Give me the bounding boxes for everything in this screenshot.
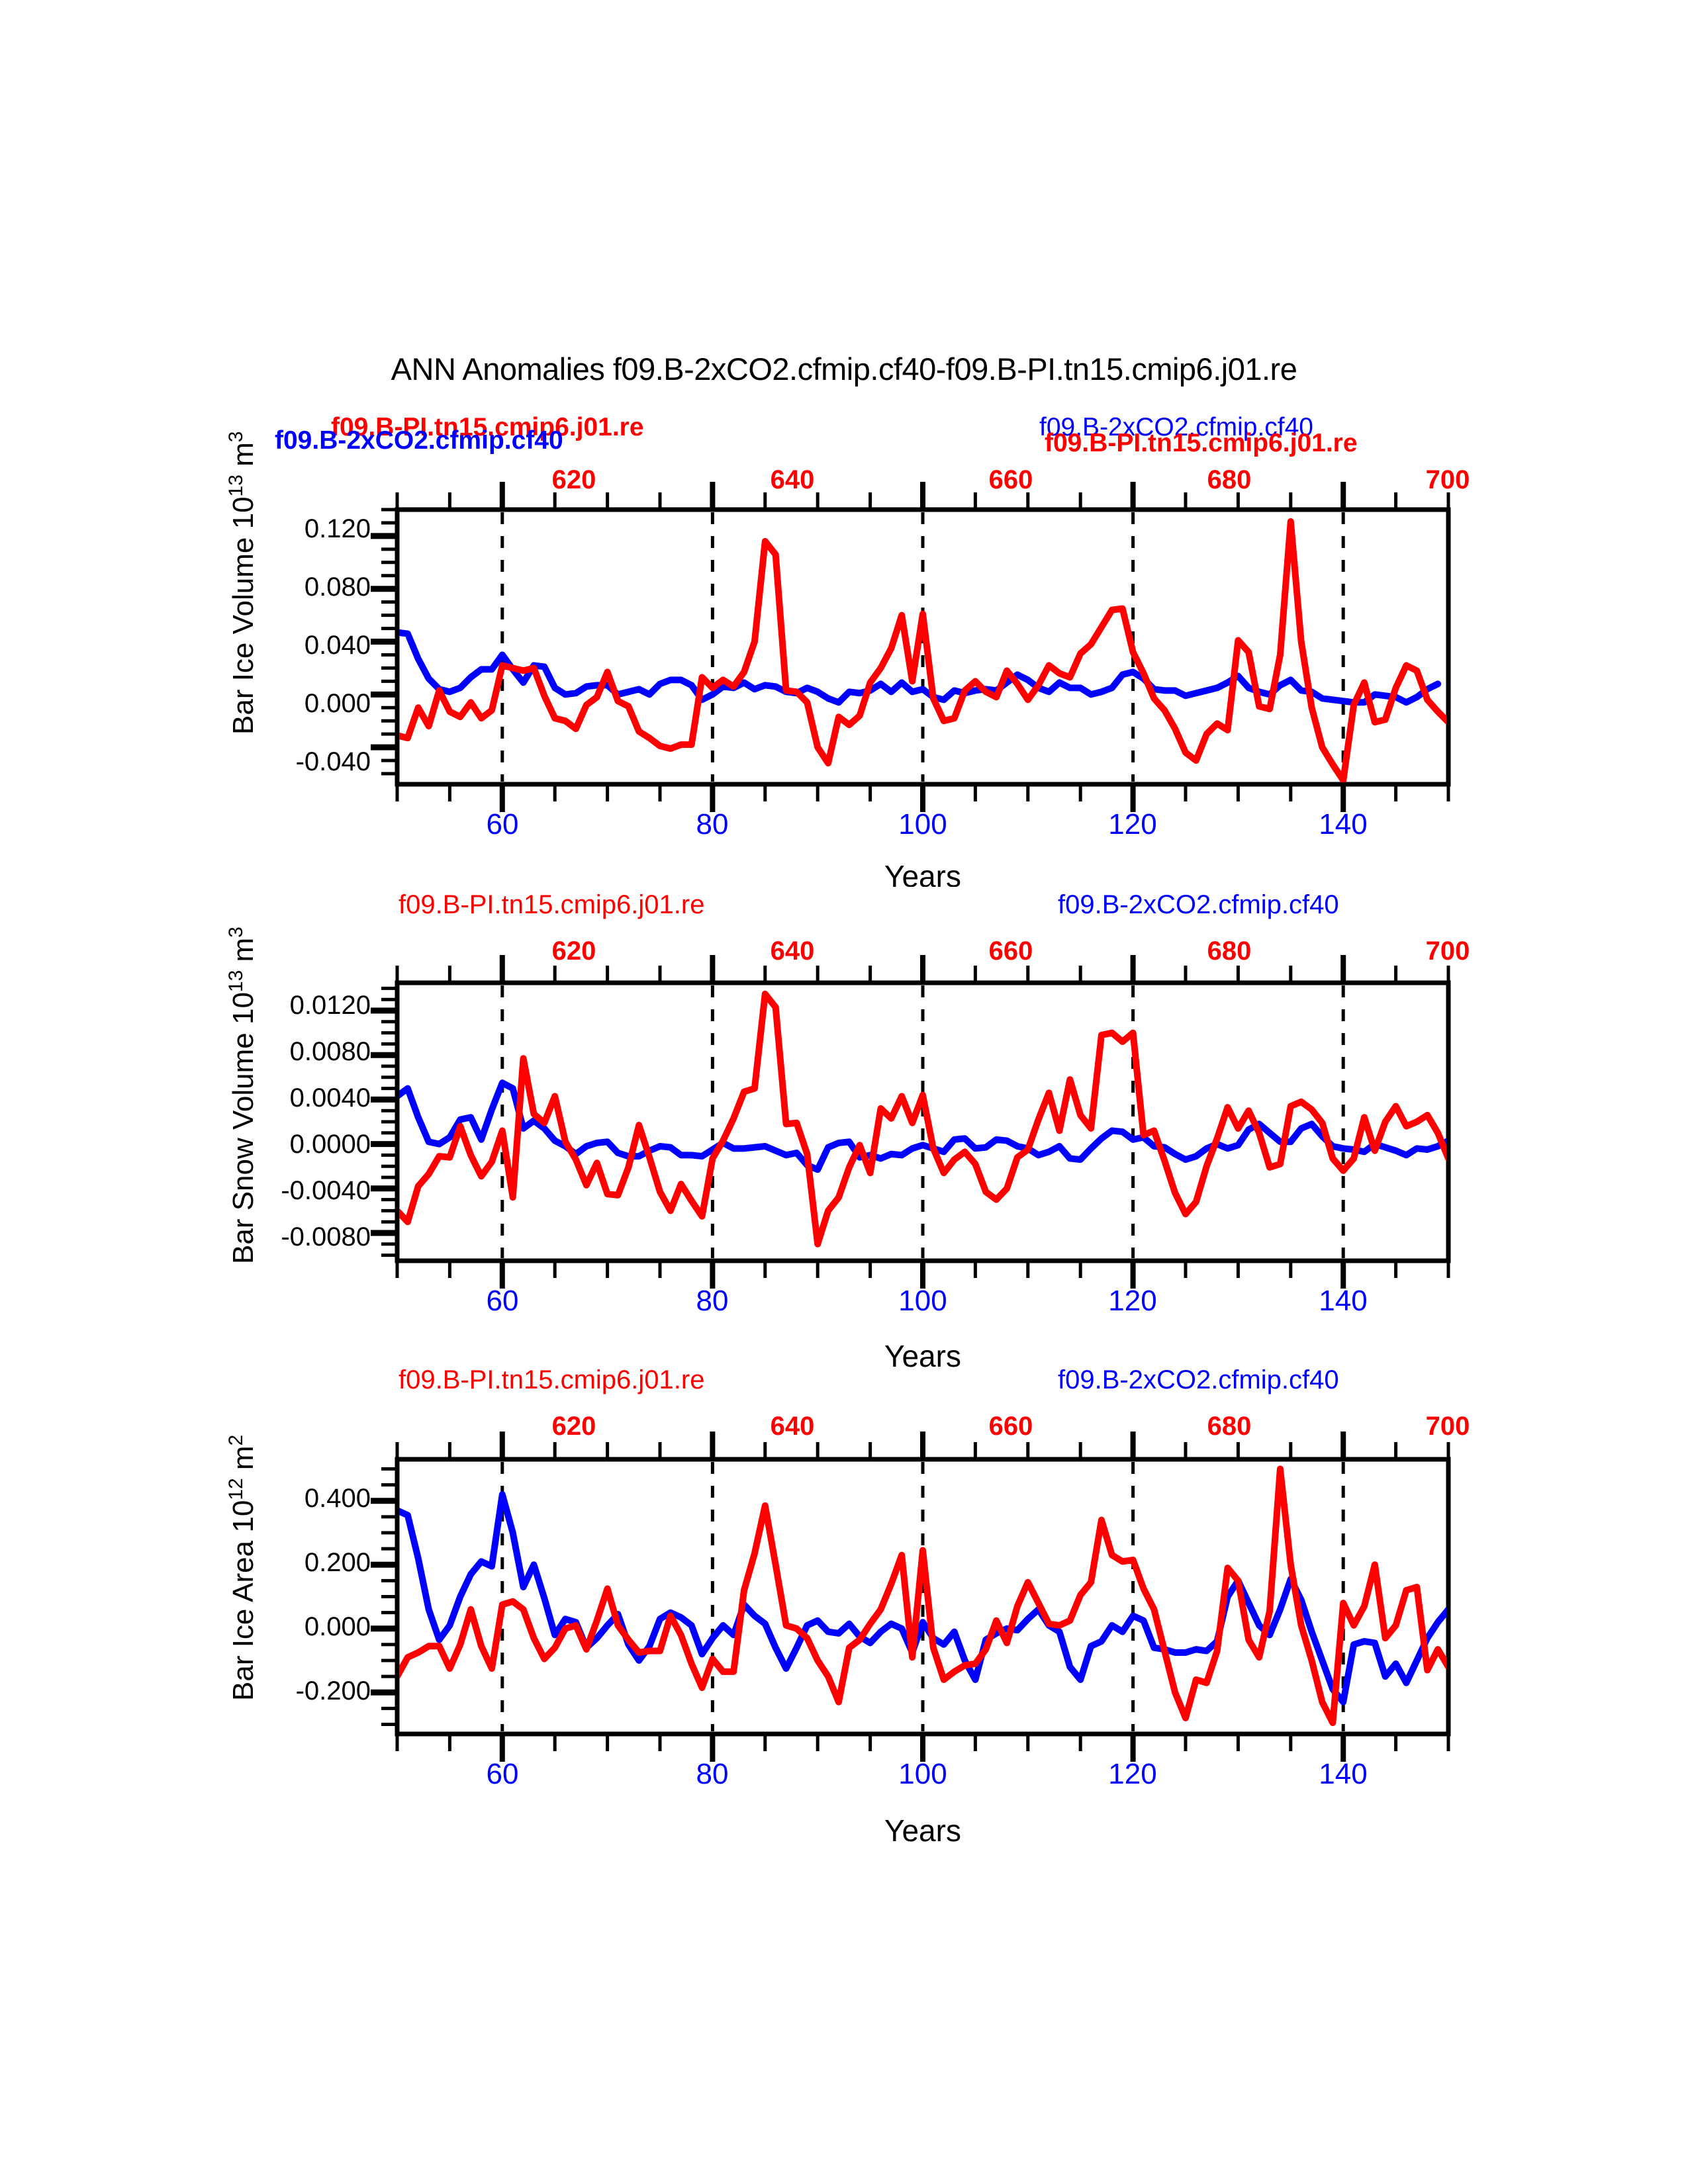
- bottom-tick-100: 100: [898, 808, 947, 841]
- panel3-ylabel-unit: m: [227, 1445, 259, 1470]
- bottom-tick-100: 100: [898, 1758, 947, 1790]
- page-title: ANN Anomalies f09.B-2xCO2.cfmip.cf40-f09…: [0, 351, 1688, 387]
- panel-snow-volume-svg: f09.B-PI.tn15.cmip6.j01.re f09.B-2xCO2.c…: [0, 860, 1688, 1390]
- panel2-top-label-left-red: f09.B-PI.tn15.cmip6.j01.re: [399, 890, 704, 919]
- bottom-tick-80: 80: [696, 808, 729, 841]
- panel2-top-labels: f09.B-PI.tn15.cmip6.j01.re f09.B-2xCO2.c…: [399, 890, 1339, 919]
- top-tick-680: 680: [1207, 1412, 1252, 1441]
- panel2-ylabel: Bar Snow Volume 1013 m3: [225, 927, 259, 1264]
- panel2-ylabel-unit-exp: 3: [225, 927, 247, 938]
- panel3-ylabel-unit-exp: 2: [225, 1435, 247, 1446]
- panel2-plot-area: [371, 955, 1448, 1289]
- panel2-bottom-ticklabels: 60 80 100 120 140: [487, 1285, 1368, 1317]
- top-tick-700: 700: [1426, 1412, 1470, 1441]
- panel1-bottom-ticklabels: 60 80 100 120 140: [487, 808, 1368, 841]
- series-line-blue: [397, 1494, 1448, 1702]
- ytick-0.200: 0.200: [305, 1548, 371, 1577]
- panel-ice-volume-svg: f09.B-PI.tn15.cmip6.j01.re f09.B-2xCO2.c…: [0, 397, 1688, 887]
- bottom-tick-140: 140: [1319, 808, 1367, 841]
- panel3-ylabel: Bar Ice Area 1012 m2: [225, 1435, 259, 1701]
- top-tick-660: 660: [989, 1412, 1033, 1441]
- top-tick-680: 680: [1207, 936, 1252, 966]
- ytick-0.120: 0.120: [305, 514, 371, 543]
- panel1-ylabel-text: Bar Ice Volume 10: [227, 496, 259, 735]
- ytick-0.040: 0.040: [305, 631, 371, 660]
- panel1-top-label-right-red: f09.B-PI.tn15.cmip6.j01.re: [1045, 429, 1358, 457]
- top-tick-640: 640: [771, 465, 815, 494]
- figure-page: ANN Anomalies f09.B-2xCO2.cfmip.cf40-f09…: [0, 0, 1688, 2184]
- bottom-tick-80: 80: [696, 1285, 729, 1317]
- top-tick-620: 620: [552, 465, 596, 494]
- panel3-ylabel-text: Bar Ice Area 10: [227, 1500, 259, 1701]
- panel-ice-area: f09.B-PI.tn15.cmip6.j01.re f09.B-2xCO2.c…: [0, 1343, 1688, 1866]
- panel3-xlabel: Years: [884, 1813, 961, 1848]
- panel-ice-area-svg: f09.B-PI.tn15.cmip6.j01.re f09.B-2xCO2.c…: [0, 1343, 1688, 1866]
- panel1-top-label-left-blue: f09.B-2xCO2.cfmip.cf40: [275, 426, 563, 455]
- bottom-tick-60: 60: [487, 1758, 519, 1790]
- top-tick-620: 620: [552, 1412, 596, 1441]
- top-tick-620: 620: [552, 936, 596, 966]
- ytick-0.0080: 0.0080: [290, 1037, 371, 1066]
- top-tick-700: 700: [1426, 936, 1470, 966]
- ytick-0.080: 0.080: [305, 572, 371, 602]
- bottom-tick-140: 140: [1319, 1285, 1367, 1317]
- panel2-ylabel-text: Bar Snow Volume 10: [227, 992, 259, 1264]
- panel-snow-volume: f09.B-PI.tn15.cmip6.j01.re f09.B-2xCO2.c…: [0, 860, 1688, 1390]
- panel1-ylabel-unit-exp: 3: [225, 432, 247, 443]
- top-tick-640: 640: [771, 1412, 815, 1441]
- bottom-tick-80: 80: [696, 1758, 729, 1790]
- panel2-ylabel-unit: m: [227, 938, 259, 962]
- top-tick-660: 660: [989, 936, 1033, 966]
- panel2-top-label-right-blue: f09.B-2xCO2.cfmip.cf40: [1058, 890, 1339, 919]
- panel3-bottom-ticklabels: 60 80 100 120 140: [487, 1758, 1368, 1790]
- ytick-0.400: 0.400: [305, 1484, 371, 1513]
- panel1-ylabel-unit: m: [227, 442, 259, 467]
- panel1-ylabel-exp: 13: [225, 475, 247, 496]
- top-tick-640: 640: [771, 936, 815, 966]
- panel3-ytick-labels: 0.400 0.200 0.000 -0.200: [296, 1484, 371, 1706]
- panel-ice-volume: f09.B-PI.tn15.cmip6.j01.re f09.B-2xCO2.c…: [0, 397, 1688, 887]
- ytick--0.040: -0.040: [296, 747, 371, 776]
- ytick-0.000: 0.000: [305, 689, 371, 718]
- panel2-ylabel-exp: 13: [225, 970, 247, 992]
- panel1-ylabel: Bar Ice Volume 1013 m3: [225, 432, 259, 735]
- bottom-tick-60: 60: [487, 808, 519, 841]
- panel1-top-axis-ticks: 620 640 660 680 700: [552, 465, 1470, 494]
- panel3-plot-frame: [397, 1459, 1448, 1734]
- ytick--0.0040: -0.0040: [281, 1176, 371, 1205]
- ytick-0.0040: 0.0040: [290, 1083, 371, 1113]
- panel2-ytick-labels: 0.0120 0.0080 0.0040 0.0000 -0.0040 -0.0…: [281, 991, 371, 1251]
- svg-text:Bar Ice Volume 1013 m3: Bar Ice Volume 1013 m3: [225, 432, 259, 735]
- panel3-top-label-right-blue: f09.B-2xCO2.cfmip.cf40: [1058, 1365, 1339, 1394]
- panel3-ylabel-exp: 12: [225, 1478, 247, 1500]
- ytick-0.0120: 0.0120: [290, 991, 371, 1020]
- bottom-tick-60: 60: [487, 1285, 519, 1317]
- top-tick-660: 660: [989, 465, 1033, 494]
- ytick-0.0000: 0.0000: [290, 1130, 371, 1159]
- panel3-plot-area: [371, 1432, 1448, 1762]
- ytick--0.200: -0.200: [296, 1676, 371, 1706]
- panel3-top-axis-ticks: 620 640 660 680 700: [552, 1412, 1470, 1441]
- bottom-tick-120: 120: [1108, 1285, 1156, 1317]
- bottom-tick-120: 120: [1108, 1758, 1156, 1790]
- ytick--0.0080: -0.0080: [281, 1222, 371, 1251]
- svg-text:Bar Snow Volume 1013 m3: Bar Snow Volume 1013 m3: [225, 927, 259, 1264]
- panel2-top-axis-ticks: 620 640 660 680 700: [552, 936, 1470, 966]
- bottom-tick-120: 120: [1108, 808, 1156, 841]
- bottom-tick-140: 140: [1319, 1758, 1367, 1790]
- bottom-tick-100: 100: [898, 1285, 947, 1317]
- top-tick-700: 700: [1426, 465, 1470, 494]
- svg-text:Bar Ice Area 1012 m2: Bar Ice Area 1012 m2: [225, 1435, 259, 1701]
- panel1-ytick-labels: 0.120 0.080 0.040 0.000 -0.040: [296, 514, 371, 776]
- panel1-top-labels: f09.B-PI.tn15.cmip6.j01.re f09.B-2xCO2.c…: [275, 413, 1358, 457]
- panel1-plot-area: [371, 482, 1448, 812]
- top-tick-680: 680: [1207, 465, 1252, 494]
- ytick-0.000: 0.000: [305, 1612, 371, 1641]
- panel3-top-labels: f09.B-PI.tn15.cmip6.j01.re f09.B-2xCO2.c…: [399, 1365, 1339, 1394]
- panel3-top-label-left-red: f09.B-PI.tn15.cmip6.j01.re: [399, 1365, 704, 1394]
